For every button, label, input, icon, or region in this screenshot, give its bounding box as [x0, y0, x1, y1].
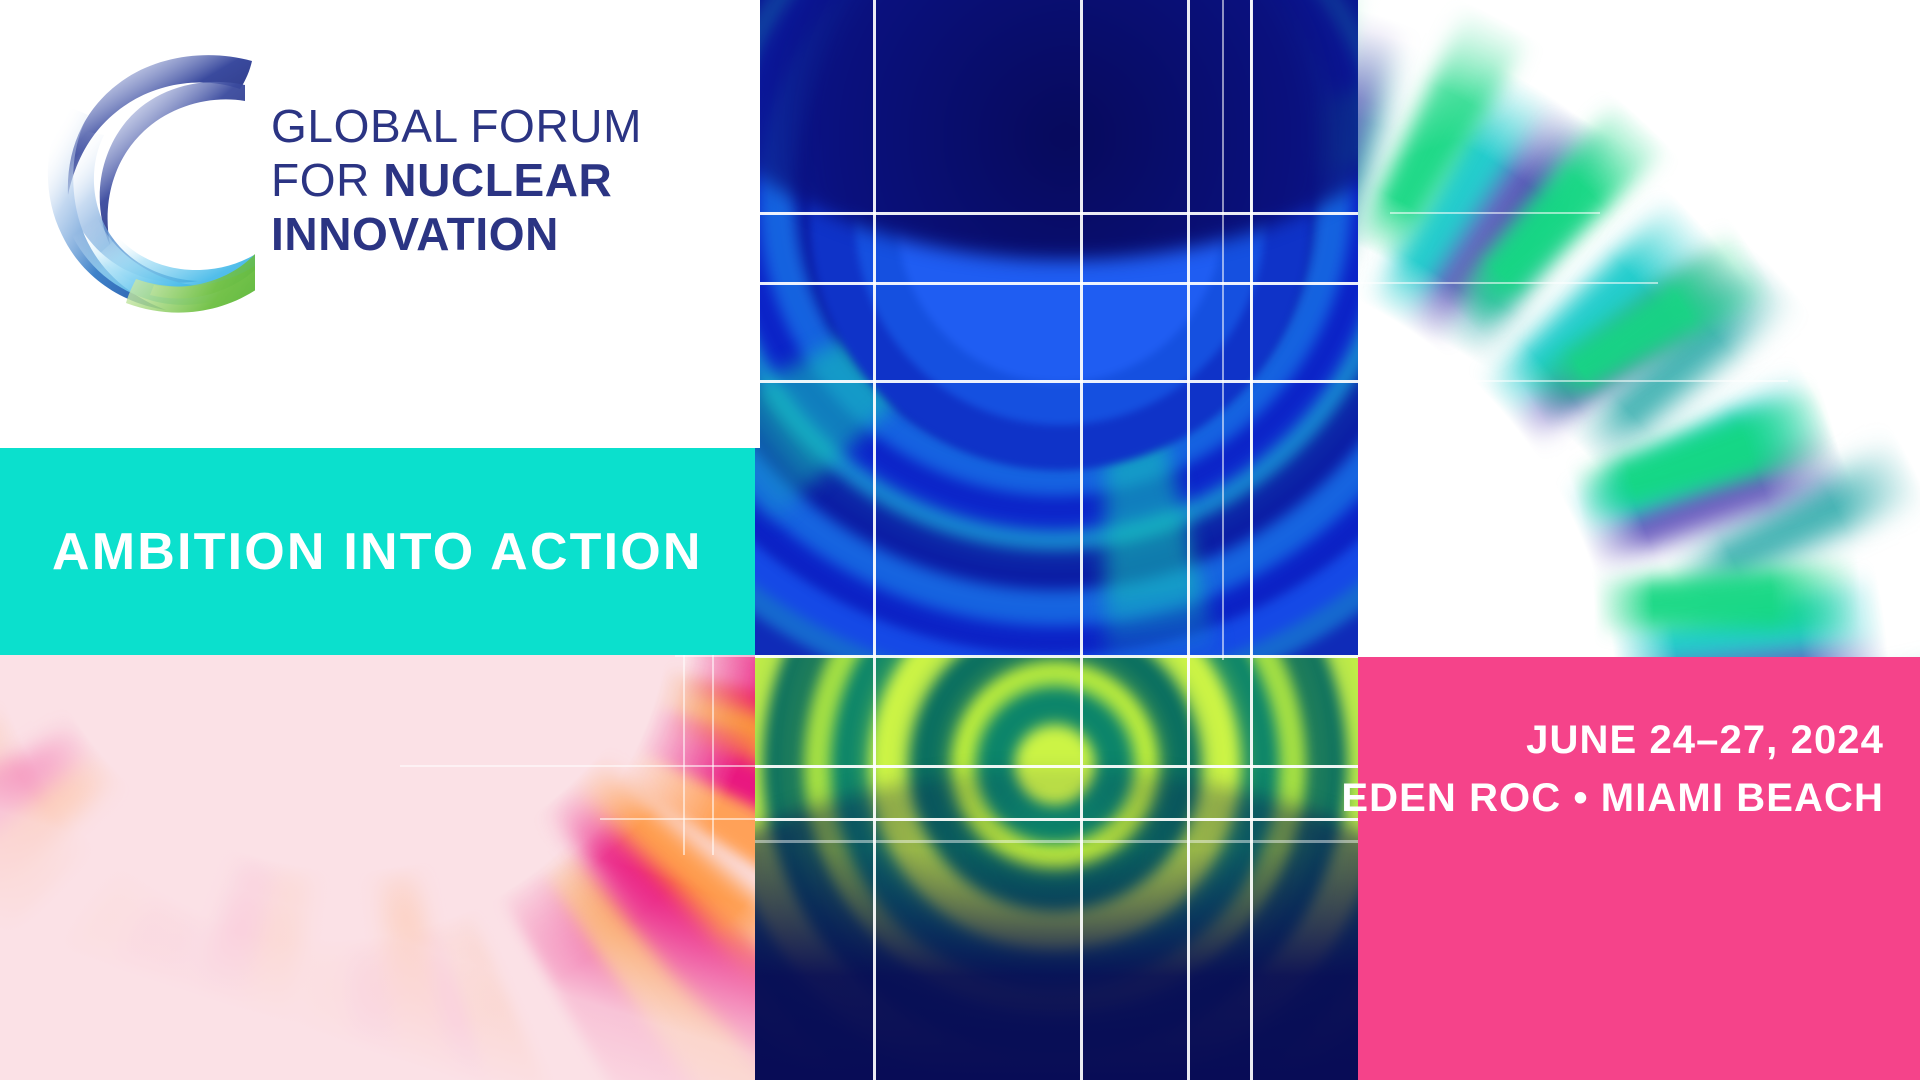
event-details-text: JUNE 24–27, 2024 EDEN ROC • MIAMI BEACH — [1341, 711, 1884, 827]
tagline-band: AMBITION INTO ACTION — [0, 448, 755, 655]
event-details-box: JUNE 24–27, 2024 EDEN ROC • MIAMI BEACH — [1358, 657, 1920, 1080]
logo-line-2-thin: FOR — [271, 154, 383, 206]
logo-line-2: FOR NUCLEAR — [271, 157, 642, 203]
gfni-swirl-logomark — [40, 45, 255, 315]
swirl-fade-overlay — [0, 655, 760, 1080]
logo-line-1: GLOBAL FORUM — [271, 103, 642, 149]
gfni-logo[interactable]: GLOBAL FORUM FOR NUCLEAR INNOVATION — [40, 45, 642, 315]
poster-canvas: GLOBAL FORUM FOR NUCLEAR INNOVATION AMBI… — [0, 0, 1920, 1080]
ripple-bottom-half — [755, 655, 1358, 1080]
tagline-text: AMBITION INTO ACTION — [52, 522, 703, 582]
lower-left-swirl-artwork — [0, 655, 760, 1080]
center-ripple-artwork — [755, 0, 1358, 1080]
event-venue: EDEN ROC • MIAMI BEACH — [1341, 769, 1884, 827]
gfni-logo-wordmark: GLOBAL FORUM FOR NUCLEAR INNOVATION — [271, 103, 642, 257]
ripple-top-half — [755, 0, 1358, 660]
event-dates: JUNE 24–27, 2024 — [1341, 711, 1884, 769]
ripple-bottom-fade — [755, 850, 1358, 1080]
logo-line-2-bold: NUCLEAR — [383, 154, 612, 206]
ripple-top-dark-cap — [755, 0, 1358, 260]
logo-line-3: INNOVATION — [271, 211, 642, 257]
